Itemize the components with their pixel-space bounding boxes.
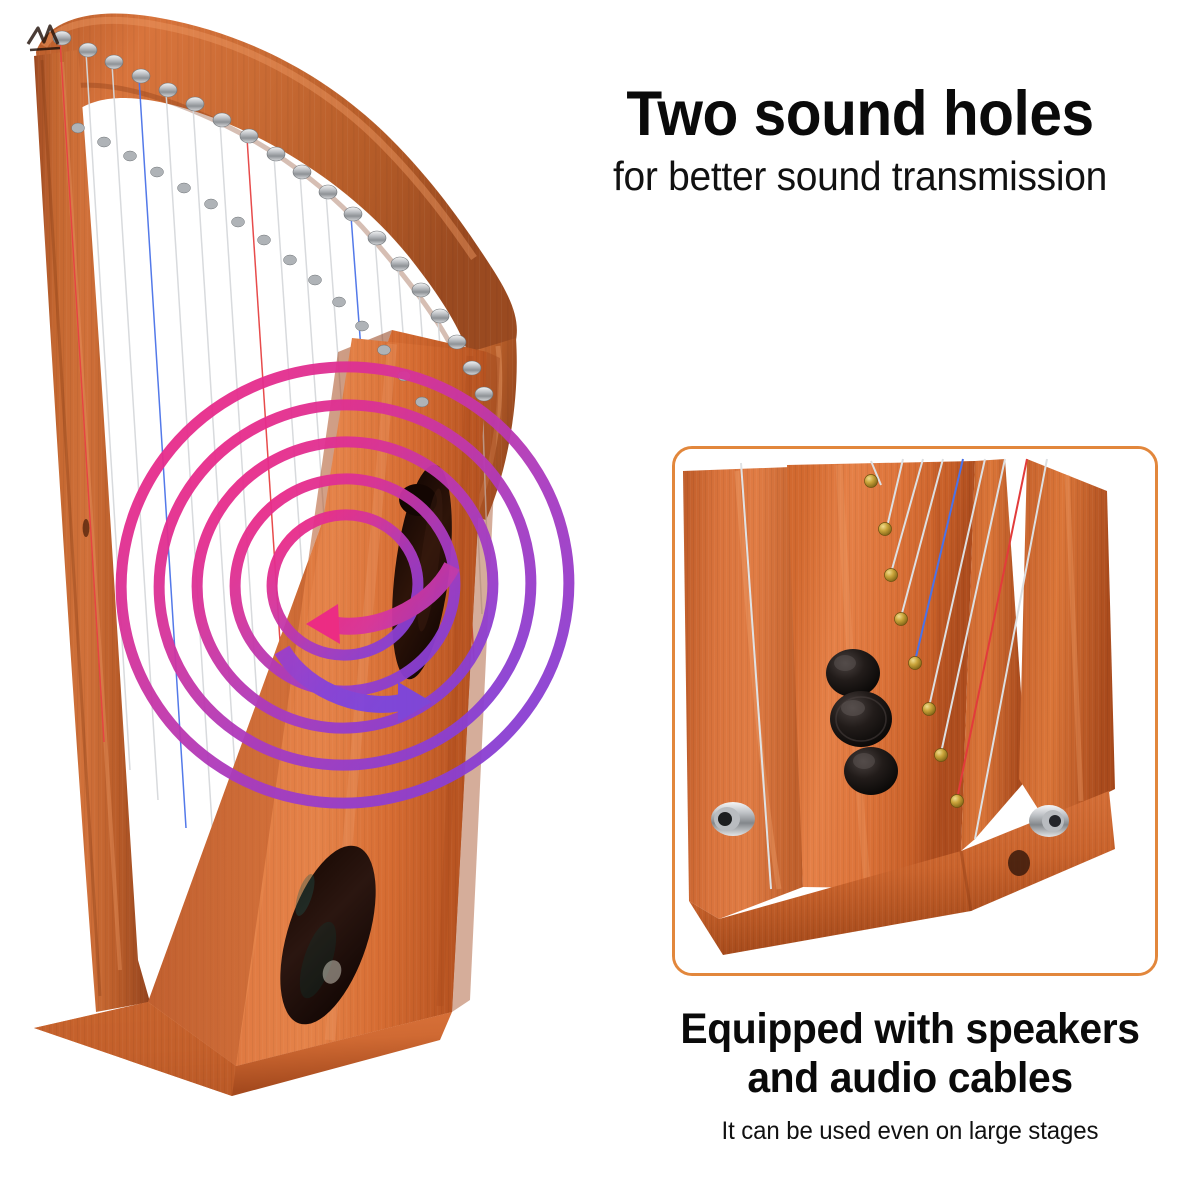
harp-soundbox <box>34 330 500 1096</box>
bridge-pins-row <box>72 123 429 407</box>
upper-sound-hole <box>382 462 462 683</box>
caption-line-2: and audio cables <box>635 1054 1186 1103</box>
purple-arrow-right <box>282 650 432 722</box>
product-feature-image: Two sound holes for better sound transmi… <box>0 0 1200 1200</box>
harp-strings <box>60 40 488 924</box>
inset-closeup-panel <box>672 446 1158 976</box>
pink-arrow-left <box>306 566 452 644</box>
port-hole <box>1008 850 1030 876</box>
harp-pillar <box>34 50 150 1012</box>
caption-block: Equipped with speakers and audio cables … <box>620 1005 1200 1146</box>
headline-block: Two sound holes for better sound transmi… <box>520 82 1200 200</box>
lower-sound-hole <box>261 834 395 1036</box>
brand-logo-icon <box>28 26 60 50</box>
caption-subtext: It can be used even on large stages <box>632 1117 1189 1146</box>
harp-neck <box>36 13 517 360</box>
page-title: Two sound holes <box>544 82 1176 146</box>
main-harp-photo <box>0 0 600 1170</box>
caption-line-1: Equipped with speakers <box>635 1005 1186 1054</box>
sound-wave-rings <box>90 335 600 836</box>
tuning-pegs-row <box>53 31 493 401</box>
page-subtitle: for better sound transmission <box>537 153 1183 200</box>
harp-neck-lower <box>430 338 517 520</box>
